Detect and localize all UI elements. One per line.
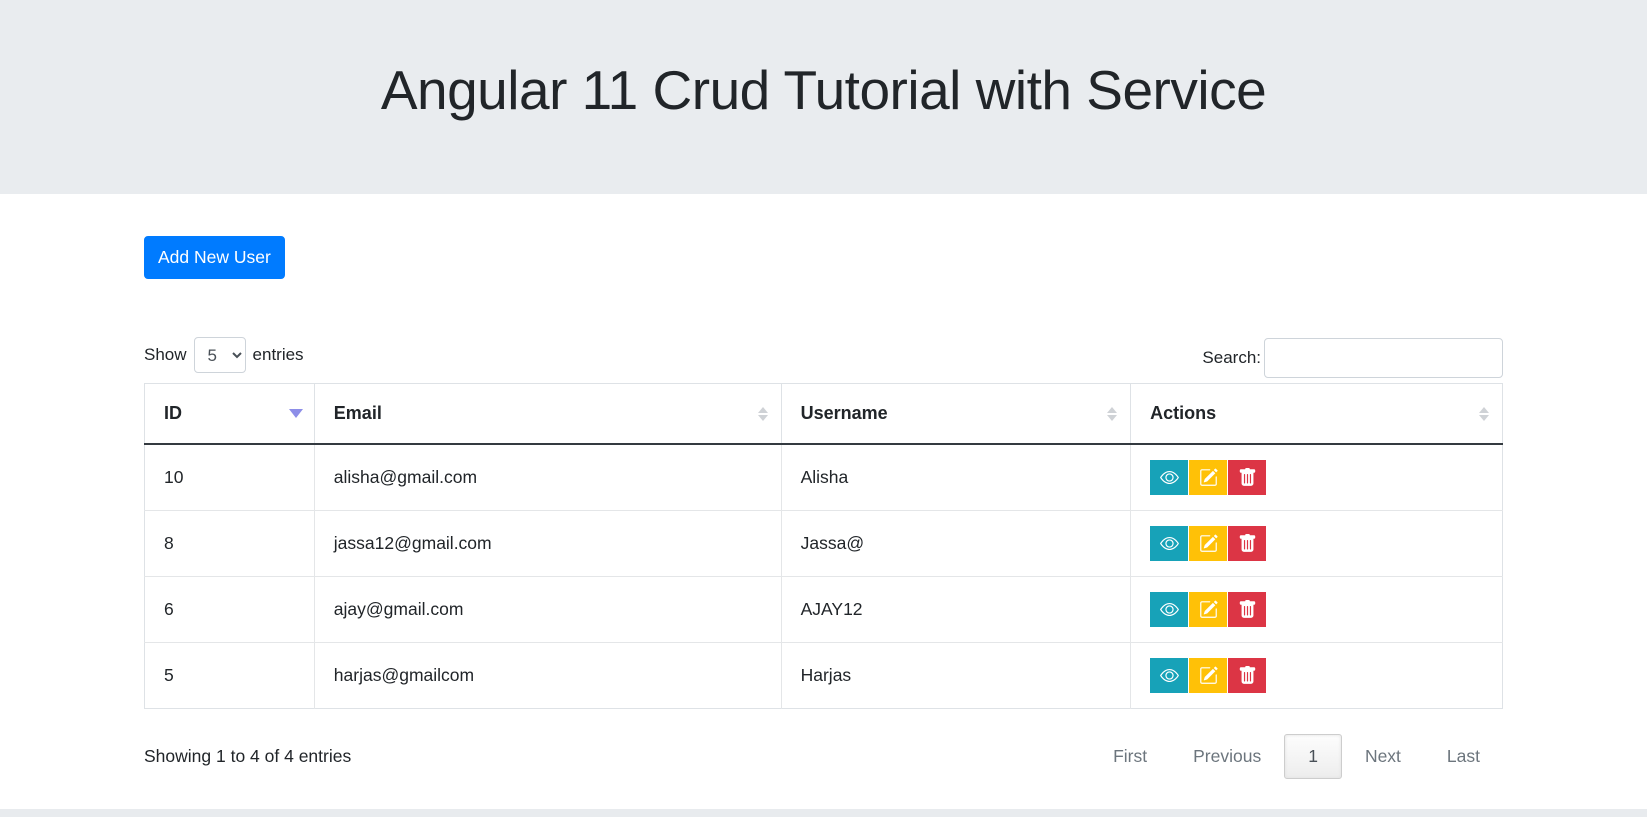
cell-id: 10 <box>145 444 315 511</box>
table-head: ID Email Username <box>145 384 1503 445</box>
column-header-actions-label: Actions <box>1150 403 1216 423</box>
pagination-first[interactable]: First <box>1090 734 1170 779</box>
cell-email: harjas@gmailcom <box>314 643 781 709</box>
edit-user-button[interactable] <box>1189 658 1227 693</box>
datatable-footer: Showing 1 to 4 of 4 entries First Previo… <box>144 731 1503 781</box>
table-row: 5 harjas@gmailcom Harjas <box>145 643 1503 709</box>
main-container: Add New User Show 5 entries Search: ID <box>129 194 1518 781</box>
search-input[interactable] <box>1264 338 1503 378</box>
pagination-next[interactable]: Next <box>1342 734 1424 779</box>
cell-id: 6 <box>145 577 315 643</box>
toolbar: Add New User <box>144 194 1503 279</box>
trash-icon <box>1238 666 1257 685</box>
cell-actions <box>1131 577 1503 643</box>
column-header-email[interactable]: Email <box>314 384 781 445</box>
page-root: Angular 11 Crud Tutorial with Service Ad… <box>0 0 1647 817</box>
entries-info: Showing 1 to 4 of 4 entries <box>144 746 351 767</box>
trash-icon <box>1238 468 1257 487</box>
pagination-page-1[interactable]: 1 <box>1284 734 1342 779</box>
eye-icon <box>1160 666 1179 685</box>
cell-email: ajay@gmail.com <box>314 577 781 643</box>
show-label: Show <box>144 345 187 365</box>
cell-username: Alisha <box>781 444 1131 511</box>
table-header-row: ID Email Username <box>145 384 1503 445</box>
page-title: Angular 11 Crud Tutorial with Service <box>381 60 1266 135</box>
row-action-group <box>1150 592 1483 627</box>
cell-username: Jassa@ <box>781 511 1131 577</box>
trash-icon <box>1238 534 1257 553</box>
entries-length-control: Show 5 entries <box>144 331 304 373</box>
cell-actions <box>1131 511 1503 577</box>
table-row: 6 ajay@gmail.com AJAY12 <box>145 577 1503 643</box>
row-action-group <box>1150 526 1483 561</box>
pencil-square-icon <box>1199 468 1218 487</box>
eye-icon <box>1160 534 1179 553</box>
edit-user-button[interactable] <box>1189 592 1227 627</box>
horizontal-scrollbar-track[interactable] <box>0 809 1647 817</box>
page-header-banner: Angular 11 Crud Tutorial with Service <box>0 0 1647 194</box>
cell-actions <box>1131 643 1503 709</box>
pencil-square-icon <box>1199 666 1218 685</box>
pagination-previous[interactable]: Previous <box>1170 734 1284 779</box>
eye-icon <box>1160 468 1179 487</box>
cell-actions <box>1131 444 1503 511</box>
column-header-username[interactable]: Username <box>781 384 1131 445</box>
table-row: 8 jassa12@gmail.com Jassa@ <box>145 511 1503 577</box>
search-filter: Search: <box>1202 331 1503 378</box>
add-new-user-button[interactable]: Add New User <box>144 236 285 279</box>
row-action-group <box>1150 460 1483 495</box>
cell-email: jassa12@gmail.com <box>314 511 781 577</box>
cell-id: 8 <box>145 511 315 577</box>
column-header-username-label: Username <box>801 403 888 423</box>
edit-user-button[interactable] <box>1189 460 1227 495</box>
delete-user-button[interactable] <box>1228 658 1266 693</box>
view-user-button[interactable] <box>1150 592 1188 627</box>
eye-icon <box>1160 600 1179 619</box>
cell-id: 5 <box>145 643 315 709</box>
cell-username: Harjas <box>781 643 1131 709</box>
row-action-group <box>1150 658 1483 693</box>
view-user-button[interactable] <box>1150 526 1188 561</box>
table-row: 10 alisha@gmail.com Alisha <box>145 444 1503 511</box>
sort-none-icon <box>1106 405 1118 423</box>
column-header-id-label: ID <box>164 403 182 423</box>
view-user-button[interactable] <box>1150 460 1188 495</box>
search-label: Search: <box>1202 348 1261 368</box>
delete-user-button[interactable] <box>1228 592 1266 627</box>
column-header-email-label: Email <box>334 403 382 423</box>
trash-icon <box>1238 600 1257 619</box>
table-body: 10 alisha@gmail.com Alisha <box>145 444 1503 709</box>
cell-email: alisha@gmail.com <box>314 444 781 511</box>
pencil-square-icon <box>1199 600 1218 619</box>
view-user-button[interactable] <box>1150 658 1188 693</box>
delete-user-button[interactable] <box>1228 526 1266 561</box>
pagination: First Previous 1 Next Last <box>1090 734 1503 779</box>
cell-username: AJAY12 <box>781 577 1131 643</box>
entries-label: entries <box>253 345 304 365</box>
pagination-last[interactable]: Last <box>1424 734 1503 779</box>
column-header-id[interactable]: ID <box>145 384 315 445</box>
users-table: ID Email Username <box>144 383 1503 709</box>
column-header-actions[interactable]: Actions <box>1131 384 1503 445</box>
delete-user-button[interactable] <box>1228 460 1266 495</box>
edit-user-button[interactable] <box>1189 526 1227 561</box>
pencil-square-icon <box>1199 534 1218 553</box>
sort-descending-icon <box>290 405 302 423</box>
entries-per-page-select[interactable]: 5 <box>194 337 246 373</box>
sort-none-icon <box>1478 405 1490 423</box>
sort-none-icon <box>757 405 769 423</box>
datatable-controls: Show 5 entries Search: <box>144 331 1503 377</box>
